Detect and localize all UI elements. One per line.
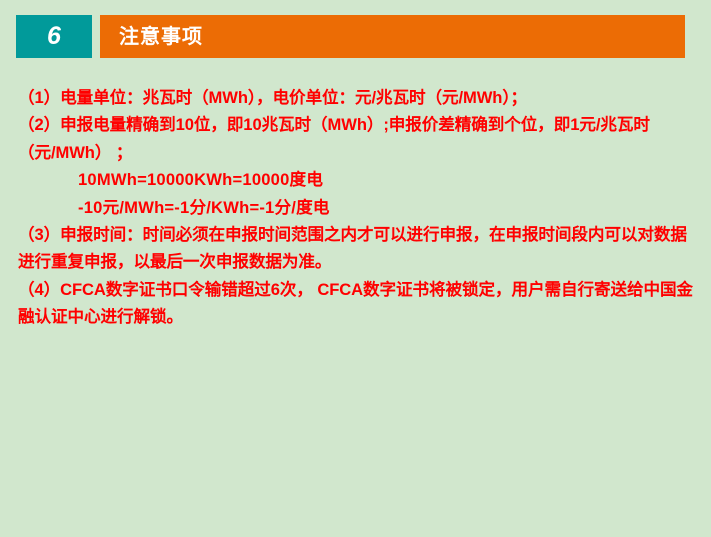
section-title-bar: 注意事项 [100,15,685,58]
note-item-3: （3）申报时间：时间必须在申报时间范围之内才可以进行申报，在申报时间段内可以对数… [18,221,702,276]
note-item-2-example-1: 10MWh=10000KWh=10000度电 [18,166,702,193]
note-item-1: （1）电量单位：兆瓦时（MWh），电价单位：元/兆瓦时（元/MWh）； [18,84,702,111]
slide-canvas: 6 注意事项 （1）电量单位：兆瓦时（MWh），电价单位：元/兆瓦时（元/MWh… [0,0,711,537]
slide-header: 6 注意事项 [16,15,685,58]
page-title: 注意事项 [100,27,203,47]
notes-body: （1）电量单位：兆瓦时（MWh），电价单位：元/兆瓦时（元/MWh）； （2）申… [18,84,702,331]
note-item-2-example-2: -10元/MWh=-1分/KWh=-1分/度电 [18,194,702,221]
note-item-4: （4）CFCA数字证书口令输错超过6次， CFCA数字证书将被锁定，用户需自行寄… [18,276,702,331]
note-item-2: （2）申报电量精确到10位，即10兆瓦时（MWh）;申报价差精确到个位，即1元/… [18,111,702,166]
section-number-badge: 6 [16,15,92,58]
section-number-label: 6 [47,24,61,49]
